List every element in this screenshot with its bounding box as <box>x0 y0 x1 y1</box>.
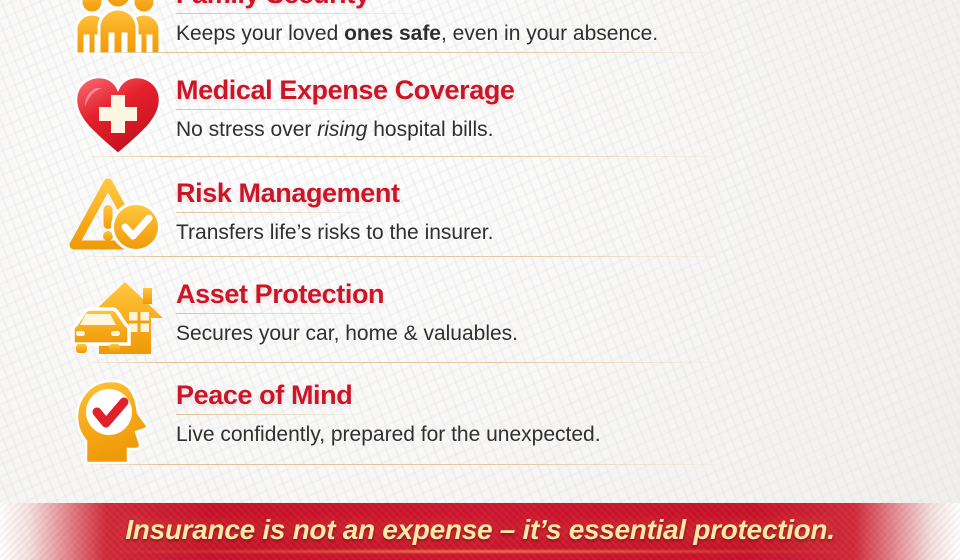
benefit-row-asset-protection: Asset Protection Secures your car, home … <box>60 278 760 360</box>
text-cell: Medical Expense Coverage No stress over … <box>176 74 760 142</box>
benefit-heading: Risk Management <box>176 179 760 208</box>
family-group-icon <box>70 0 166 54</box>
footer-banner: Insurance is not an expense – it’s essen… <box>0 503 960 560</box>
heart-medical-cross-icon <box>72 74 164 158</box>
text-cell: Asset Protection Secures your car, home … <box>176 278 760 346</box>
benefit-heading: Asset Protection <box>176 280 760 309</box>
benefit-description: Live confidently, prepared for the unexp… <box>176 422 760 447</box>
heading-underline <box>176 414 362 415</box>
icon-cell <box>60 177 176 257</box>
heading-underline <box>176 13 434 14</box>
row-divider <box>88 256 716 257</box>
row-divider <box>88 156 716 157</box>
benefit-row-medical-expense-coverage: Medical Expense Coverage No stress over … <box>60 74 760 158</box>
icon-cell <box>60 278 176 360</box>
heading-underline <box>176 212 372 213</box>
benefit-description: Secures your car, home & valuables. <box>176 321 760 346</box>
benefit-row-risk-management: Risk Management Transfers life’s risks t… <box>60 177 760 257</box>
text-cell: Family Security Keeps your loved ones sa… <box>176 0 760 46</box>
text-cell: Risk Management Transfers life’s risks t… <box>176 177 760 245</box>
benefit-row-family-security: Family Security Keeps your loved ones sa… <box>60 0 760 54</box>
benefit-description: No stress over rising hospital bills. <box>176 117 760 142</box>
icon-cell <box>60 379 176 465</box>
benefit-heading: Family Security <box>176 0 760 9</box>
benefit-description: Keeps your loved ones safe, even in your… <box>176 21 760 46</box>
text-cell: Peace of Mind Live confidently, prepared… <box>176 379 760 447</box>
benefit-heading: Medical Expense Coverage <box>176 76 760 105</box>
heading-underline <box>176 313 376 314</box>
row-divider <box>88 464 716 465</box>
banner-glow-line <box>120 550 840 553</box>
benefit-heading: Peace of Mind <box>176 381 760 410</box>
banner-tagline: Insurance is not an expense – it’s essen… <box>0 514 960 546</box>
benefit-description: Transfers life’s risks to the insurer. <box>176 220 760 245</box>
head-profile-check-icon <box>72 379 164 465</box>
row-divider <box>88 52 716 53</box>
benefit-row-peace-of-mind: Peace of Mind Live confidently, prepared… <box>60 379 760 465</box>
benefit-description-emphasis: rising <box>317 118 367 141</box>
icon-cell <box>60 0 176 54</box>
warning-triangle-check-icon <box>68 177 168 257</box>
row-divider <box>88 362 716 363</box>
infographic-content: Family Security Keeps your loved ones sa… <box>0 0 960 560</box>
heading-underline <box>176 109 394 110</box>
benefit-description-emphasis: ones safe <box>344 22 441 45</box>
house-car-icon <box>67 278 169 360</box>
icon-cell <box>60 74 176 158</box>
